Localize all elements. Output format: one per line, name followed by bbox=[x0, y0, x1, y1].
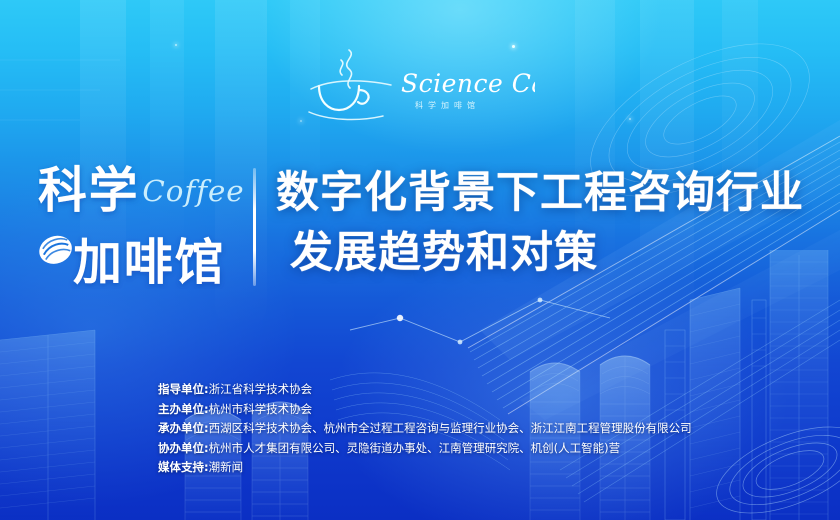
poster-title: 数字化背景下工程咨询行业 发展趋势和对策 bbox=[276, 166, 836, 280]
brand-lockup: 科学 Coffee 加啡馆 bbox=[38, 160, 243, 292]
credit-label: 承办单位: bbox=[158, 421, 209, 436]
credit-row: 指导单位: 浙江省科学技术协会 bbox=[158, 382, 798, 397]
sparkle-dot bbox=[175, 44, 177, 46]
credit-value: 潮新闻 bbox=[209, 460, 244, 475]
credits-block: 指导单位: 浙江省科学技术协会 主办单位: 杭州市科学技术协会 承办单位: 西湖… bbox=[158, 382, 798, 480]
coffee-cup-icon bbox=[319, 86, 369, 110]
credit-row: 承办单位: 西湖区科学技术协会、杭州市全过程工程咨询与监理行业协会、浙江江南工程… bbox=[158, 421, 798, 436]
credit-value: 杭州市科学技术协会 bbox=[209, 402, 313, 417]
credit-value: 浙江省科学技术协会 bbox=[209, 382, 313, 397]
logo-sub-text: 科学加啡馆 bbox=[415, 100, 480, 110]
credit-row: 协办单位: 杭州市人才集团有限公司、灵隐街道办事处、江南管理研究院、机创(人工智… bbox=[158, 441, 798, 456]
credit-value: 西湖区科学技术协会、杭州市全过程工程咨询与监理行业协会、浙江江南工程管理股份有限… bbox=[209, 421, 692, 436]
brand-line1: 科学 bbox=[38, 162, 140, 219]
credit-label: 指导单位: bbox=[158, 382, 209, 397]
credit-row: 媒体支持: 潮新闻 bbox=[158, 460, 798, 475]
credit-label: 协办单位: bbox=[158, 441, 209, 456]
science-cafe-logo: Science Café 科学加啡馆 bbox=[305, 46, 535, 122]
credit-label: 主办单位: bbox=[158, 402, 209, 417]
title-line-2: 发展趋势和对策 bbox=[290, 226, 836, 280]
title-divider bbox=[253, 168, 256, 286]
credit-row: 主办单位: 杭州市科学技术协会 bbox=[158, 402, 798, 417]
sparkle-dot bbox=[300, 120, 302, 122]
credit-label: 媒体支持: bbox=[158, 460, 209, 475]
coffee-bean-icon bbox=[38, 231, 76, 268]
title-line-1: 数字化背景下工程咨询行业 bbox=[276, 166, 836, 220]
steam-icon bbox=[340, 50, 351, 88]
poster-canvas: Science Café 科学加啡馆 科学 Coffee bbox=[0, 0, 840, 520]
logo-script-text: Science Café bbox=[401, 69, 535, 98]
brand-script: Coffee bbox=[142, 174, 243, 208]
brand-line2: 加啡馆 bbox=[73, 234, 225, 289]
sparkle-dot bbox=[629, 118, 631, 120]
credit-value: 杭州市人才集团有限公司、灵隐街道办事处、江南管理研究院、机创(人工智能)营 bbox=[209, 441, 620, 456]
